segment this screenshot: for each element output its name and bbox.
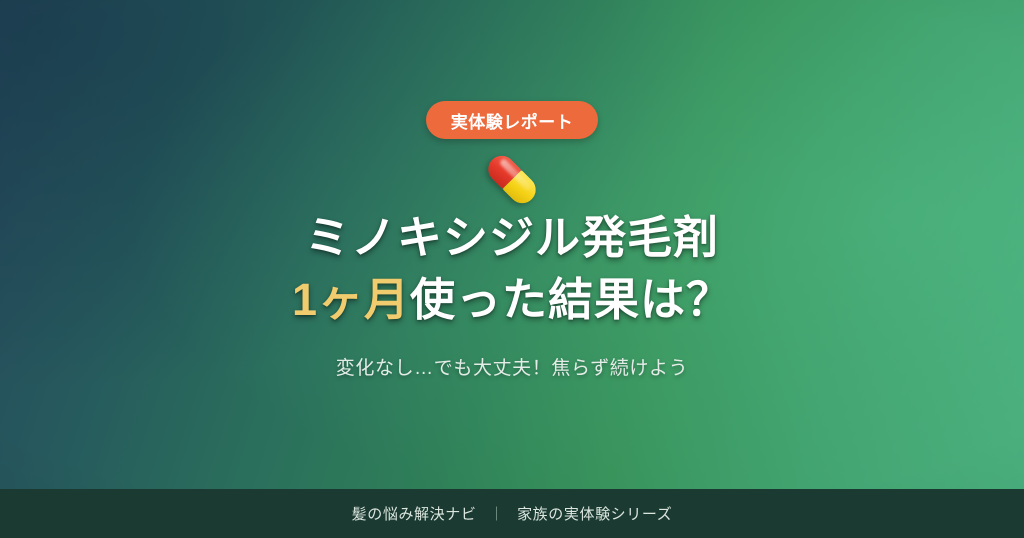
pill-capsule-shape bbox=[483, 150, 542, 209]
footer-series-name: 家族の実体験シリーズ bbox=[517, 503, 672, 524]
report-badge-label: 実体験レポート bbox=[451, 108, 574, 133]
footer-bar: 髪の悩み解決ナビ ｜ 家族の実体験シリーズ bbox=[0, 489, 1024, 538]
page-title: ミノキシジル発毛剤 1ヶ月使った結果は？ bbox=[292, 215, 732, 322]
title-line-1: ミノキシジル発毛剤 bbox=[292, 215, 732, 260]
title-line-2-rest: 使った結果は？ bbox=[410, 274, 732, 325]
banner-content: 実体験レポート ミノキシジル発毛剤 1ヶ月使った結果は？ 変化なし…でも大丈夫！… bbox=[0, 0, 1024, 538]
title-line-2: 1ヶ月使った結果は？ bbox=[292, 277, 732, 322]
footer-separator: ｜ bbox=[489, 504, 504, 524]
report-badge: 実体験レポート bbox=[426, 101, 599, 139]
subtitle: 変化なし…でも大丈夫！焦らず続けよう bbox=[336, 353, 688, 380]
title-highlight-duration: 1ヶ月 bbox=[292, 274, 410, 325]
footer-credit: 髪の悩み解決ナビ ｜ 家族の実体験シリーズ bbox=[352, 503, 673, 524]
footer-site-name: 髪の悩み解決ナビ bbox=[352, 503, 477, 524]
hero-banner: 実体験レポート ミノキシジル発毛剤 1ヶ月使った結果は？ 変化なし…でも大丈夫！… bbox=[0, 0, 1024, 538]
pill-capsule-icon bbox=[484, 156, 540, 202]
